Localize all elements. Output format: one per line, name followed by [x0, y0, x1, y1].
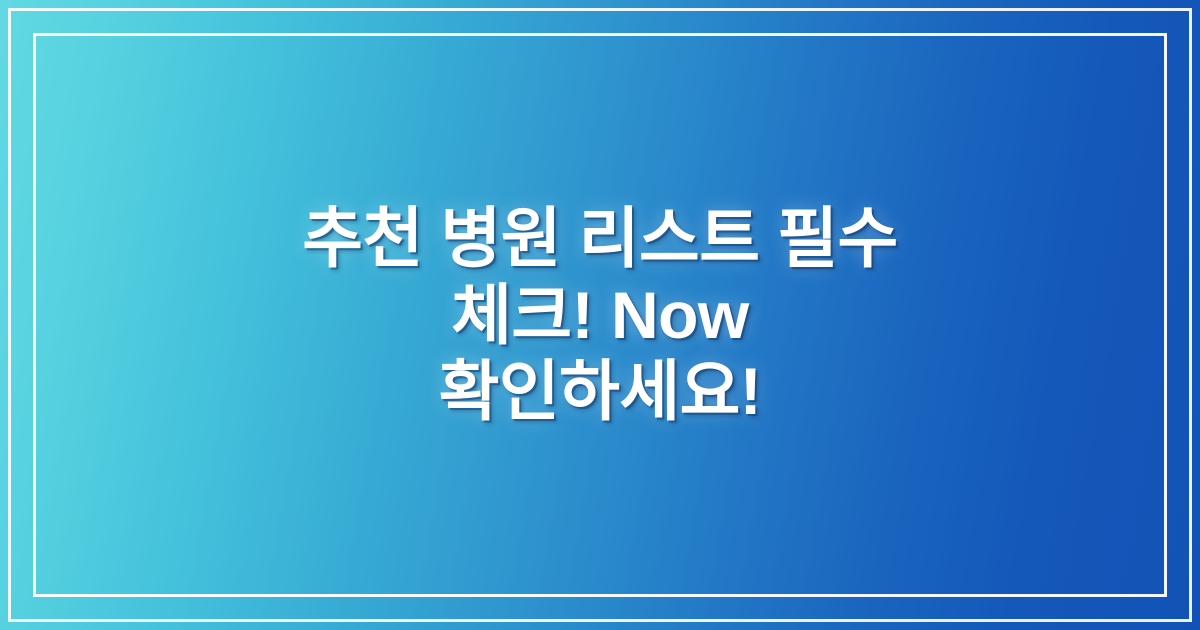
promo-banner: 추천 병원 리스트 필수 체크! Now 확인하세요!	[0, 0, 1200, 630]
headline-line-1: 추천 병원 리스트 필수	[302, 200, 898, 277]
headline-container: 추천 병원 리스트 필수 체크! Now 확인하세요!	[0, 0, 1200, 630]
headline-line-3: 확인하세요!	[302, 353, 898, 430]
banner-headline: 추천 병원 리스트 필수 체크! Now 확인하세요!	[302, 200, 898, 430]
headline-line-2: 체크! Now	[302, 277, 898, 354]
